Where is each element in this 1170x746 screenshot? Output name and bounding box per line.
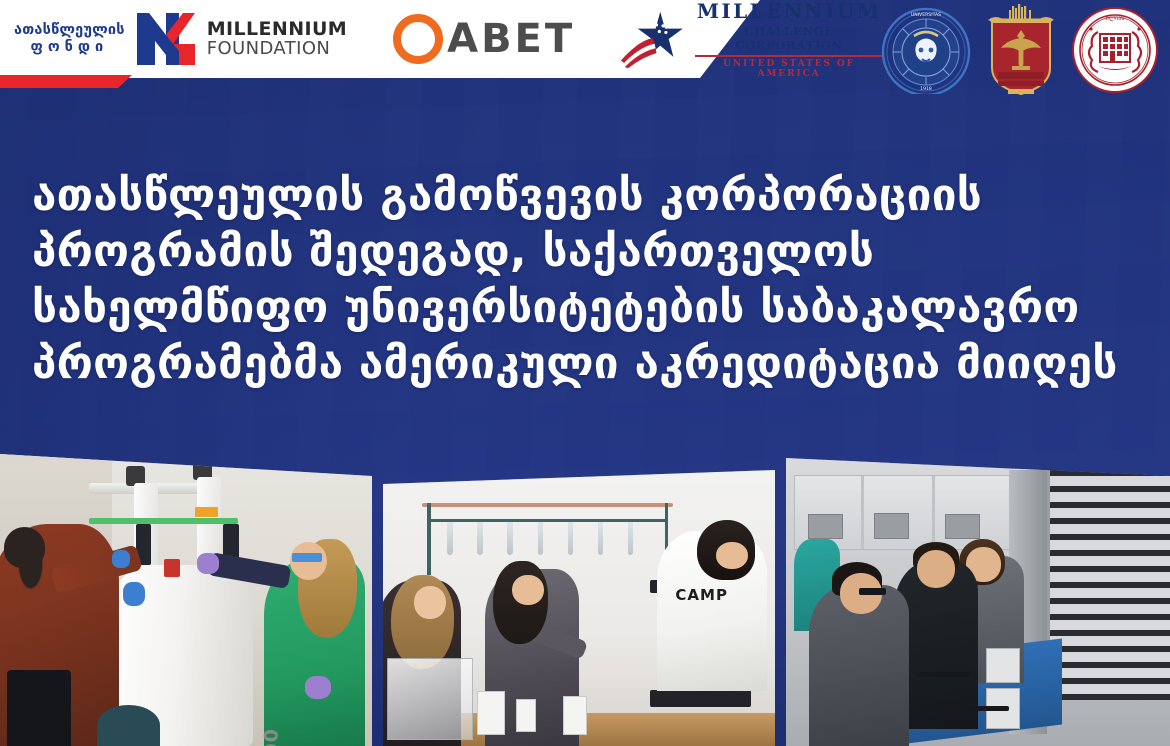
headline-line-4: პროგრამებმა ამერიკული აკრედიტაცია მიიღეს — [32, 336, 1147, 392]
mcc-divider-rule — [695, 55, 884, 57]
mcc-line-1: MILLENNIUM — [695, 0, 884, 23]
tbilisi-state-university-seal-icon: UNIVERSITAS 1918 — [878, 6, 974, 94]
mf-english-text: MILLENNIUM FOUNDATION — [207, 20, 347, 58]
mf-monogram-icon — [135, 11, 197, 67]
mcc-line-2: CHALLENGE CORPORATION — [695, 24, 884, 52]
mf-georgian-line-1: ათასწლეულის — [14, 22, 125, 39]
millennium-foundation-logo: ათასწლეულის ფონდი MILLENNIUM FOUNDATION — [14, 11, 347, 67]
headline-line-2: პროგრამის შედეგად, საქართველოს — [32, 224, 1147, 280]
photo-band: Ascend™ 400 — [0, 446, 1170, 746]
abet-logo: ABET — [393, 14, 575, 64]
nmr-instrument-label: Ascend™ 400 — [261, 728, 283, 746]
headline-line-3: სახელმწიფო უნივერსიტეტების საბაკალავრო — [32, 280, 1147, 336]
electronics-lab-students-photo — [786, 458, 1170, 746]
headline-text: ათასწლეულის გამოწვევის კორპორაციის პროგრ… — [32, 168, 1147, 392]
mcc-logo: MILLENNIUM CHALLENGE CORPORATION UNITED … — [619, 0, 883, 79]
mcc-text-block: MILLENNIUM CHALLENGE CORPORATION UNITED … — [695, 0, 884, 79]
georgian-technical-university-seal-icon — [982, 4, 1060, 96]
university-seals-row: UNIVERSITAS 1918 — [878, 4, 1162, 96]
mcc-star-flag-icon — [619, 8, 688, 70]
poster-root: ათასწლეულის ფონდი MILLENNIUM FOUNDATION … — [0, 0, 1170, 746]
mf-english-line-2: FOUNDATION — [207, 40, 347, 58]
svg-text:1918: 1918 — [920, 86, 932, 92]
partner-logo-row: ათასწლეულის ფონდი MILLENNIUM FOUNDATION … — [0, 0, 700, 78]
mf-georgian-line-2: ფონდი — [14, 39, 125, 56]
nmr-spectrometer-lab-photo: Ascend™ 400 — [0, 454, 372, 746]
abet-wordmark: ABET — [447, 16, 575, 62]
abet-ring-icon — [393, 14, 443, 64]
svg-text:ილიას: ილიას — [1106, 15, 1125, 22]
engineering-lab-students-photo: CAMP — [383, 470, 775, 746]
mf-english-line-1: MILLENNIUM — [207, 20, 347, 39]
mcc-line-3: UNITED STATES OF AMERICA — [695, 59, 884, 79]
ilia-state-university-seal-icon: ილიას — [1068, 4, 1162, 96]
svg-text:UNIVERSITAS: UNIVERSITAS — [911, 12, 941, 18]
headline-line-1: ათასწლეულის გამოწვევის კორპორაციის — [32, 168, 1147, 224]
mf-georgian-text: ათასწლეულის ფონდი — [14, 22, 125, 56]
sweatshirt-text: CAMP — [675, 586, 728, 604]
